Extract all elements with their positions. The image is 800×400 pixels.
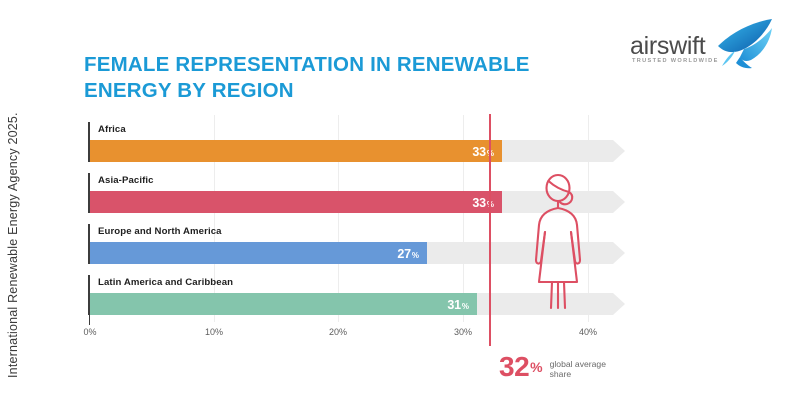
bar-value-number: 33 — [472, 196, 486, 210]
bar-value-number: 27 — [397, 247, 411, 261]
global-average-percent-sign: % — [530, 352, 542, 382]
bar-value-label: 27% — [90, 242, 419, 264]
bar-value-percent: % — [462, 302, 469, 311]
bar-category-label: Asia-Pacific — [98, 175, 154, 186]
axis-tick-label: 30% — [454, 327, 472, 337]
female-figure-icon — [527, 170, 597, 310]
bar-category-label: Europe and North America — [98, 226, 222, 237]
axis-tick-label: 20% — [329, 327, 347, 337]
bar-value-number: 33 — [472, 145, 486, 159]
bar-track-arrow-icon — [613, 293, 625, 315]
bar-value-label: 33% — [90, 191, 494, 213]
bar-track-arrow-icon — [613, 191, 625, 213]
global-average-description: global average share — [550, 359, 620, 379]
axis-origin-tick — [89, 315, 90, 325]
global-average-value: 32 — [499, 352, 529, 382]
bar-category-label: Latin America and Caribbean — [98, 277, 233, 288]
axis-tick-label: 0% — [83, 327, 96, 337]
bar-value-number: 31 — [447, 298, 461, 312]
bar-track-arrow-icon — [613, 140, 625, 162]
bar-chart: Africa 33% Asia-Pacific 33% Europe and N… — [0, 0, 800, 400]
global-average-callout: 32 % global average share — [499, 352, 620, 385]
bar-value-percent: % — [412, 251, 419, 260]
bar-track-arrow-icon — [613, 242, 625, 264]
bar-value-label: 31% — [90, 293, 469, 315]
bar-value-label: 33% — [90, 140, 494, 162]
axis-tick-label: 40% — [579, 327, 597, 337]
bar-category-label: Africa — [98, 124, 126, 135]
global-average-line — [489, 114, 491, 346]
axis-tick-label: 10% — [205, 327, 223, 337]
